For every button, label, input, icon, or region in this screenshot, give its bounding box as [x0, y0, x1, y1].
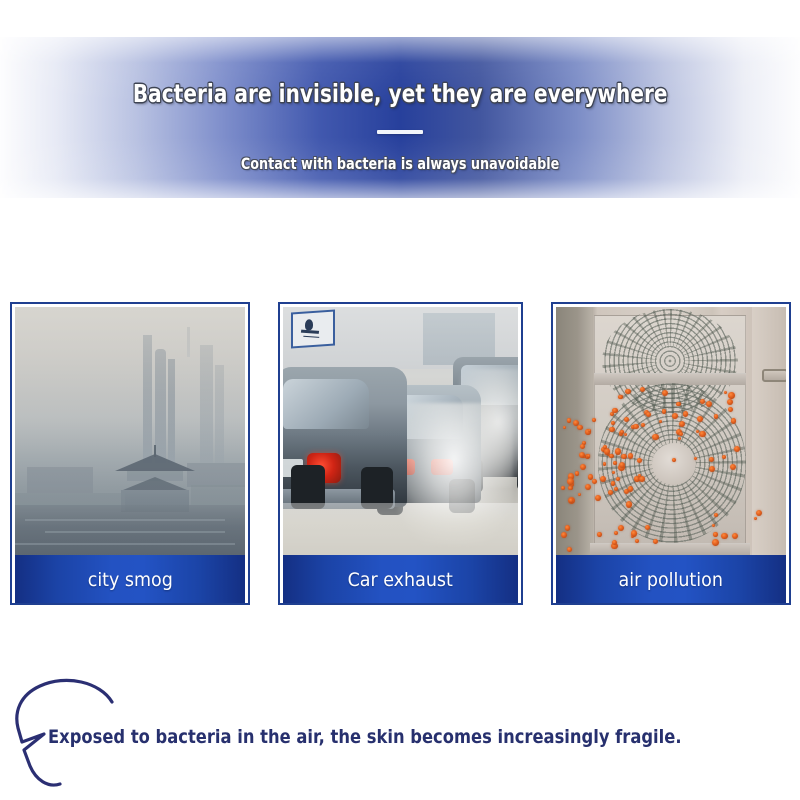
rust-speck: [603, 462, 607, 466]
car-window: [283, 379, 369, 429]
city-smog-photo: [15, 307, 245, 555]
rust-speck: [611, 481, 615, 485]
road-dust-overlay: [283, 503, 518, 555]
rust-speck: [641, 423, 645, 427]
rust-speck: [639, 476, 645, 482]
rust-speck: [697, 416, 703, 422]
hero-content: Bacteria are invisible, yet they are eve…: [0, 37, 800, 198]
rust-speck: [592, 418, 596, 422]
card-caption-label: air pollution: [619, 569, 723, 591]
rust-speck: [603, 445, 607, 449]
rust-speck: [633, 424, 639, 430]
card-caption-label: city smog: [87, 569, 172, 591]
rust-speck: [728, 392, 735, 399]
card-caption-label: Car exhaust: [348, 569, 453, 591]
rust-speck: [592, 479, 597, 484]
rust-speck: [721, 533, 728, 540]
page-subtitle: Contact with bacteria is always unavoida…: [241, 154, 560, 173]
ac-unit-side-panel: [752, 307, 786, 555]
rust-speck: [645, 525, 651, 531]
rust-speck: [713, 532, 718, 537]
rust-speck: [683, 411, 689, 417]
rust-speck: [609, 454, 614, 459]
rust-speck: [712, 539, 719, 546]
rust-speck: [672, 413, 678, 419]
rust-speck: [631, 530, 638, 537]
rust-speck: [662, 409, 667, 414]
smog-haze-overlay: [15, 307, 245, 555]
pollution-card-row: city smog: [0, 302, 800, 605]
rust-speck: [613, 461, 617, 465]
card-caption-bar: city smog: [15, 555, 245, 604]
rust-speck: [604, 448, 610, 454]
rust-speck: [565, 525, 570, 530]
rust-speck: [628, 453, 634, 459]
ac-fan-hub: [652, 443, 696, 485]
rust-speck: [618, 395, 623, 400]
rust-speck: [567, 478, 574, 485]
rust-speck: [563, 426, 566, 429]
rust-speck: [587, 454, 590, 457]
bottom-message: Exposed to bacteria in the air, the skin…: [48, 726, 682, 748]
card-caption-bar: air pollution: [556, 555, 786, 604]
card-city-smog[interactable]: city smog: [10, 302, 250, 605]
rust-speck: [608, 490, 613, 495]
rust-speck: [612, 471, 616, 475]
promo-page: Bacteria are invisible, yet they are eve…: [0, 0, 800, 800]
rust-speck: [635, 539, 639, 543]
rust-speck: [699, 431, 705, 437]
rust-speck: [567, 547, 572, 552]
rust-speck: [621, 454, 627, 460]
rust-speck: [568, 486, 573, 491]
rust-speck: [600, 476, 606, 482]
ac-handle-icon: [762, 369, 786, 382]
horizontal-rule-icon: [377, 130, 423, 134]
hero-banner: Bacteria are invisible, yet they are eve…: [0, 37, 800, 198]
rust-speck: [679, 421, 685, 427]
rust-speck: [597, 532, 602, 537]
rust-speck: [577, 425, 582, 430]
rust-speck: [676, 402, 680, 406]
air-pollution-photo: [556, 307, 786, 555]
rust-speck: [609, 427, 614, 432]
card-air-pollution[interactable]: air pollution: [551, 302, 791, 605]
rust-speck: [579, 452, 585, 458]
rust-speck: [730, 464, 736, 470]
rust-speck: [679, 432, 683, 436]
rust-speck: [614, 487, 618, 491]
page-title: Bacteria are invisible, yet they are eve…: [133, 79, 668, 108]
car-exhaust-photo: [283, 307, 518, 555]
card-car-exhaust[interactable]: Car exhaust: [278, 302, 523, 605]
rust-speck: [561, 532, 567, 538]
rust-speck: [580, 464, 586, 470]
card-caption-bar: Car exhaust: [283, 555, 518, 604]
pedestrian-crossing-sign-icon: [291, 309, 335, 348]
rust-speck: [626, 501, 632, 507]
rust-speck: [714, 513, 718, 517]
rust-speck: [625, 389, 630, 394]
rust-speck: [652, 434, 658, 440]
rust-speck: [595, 495, 601, 501]
